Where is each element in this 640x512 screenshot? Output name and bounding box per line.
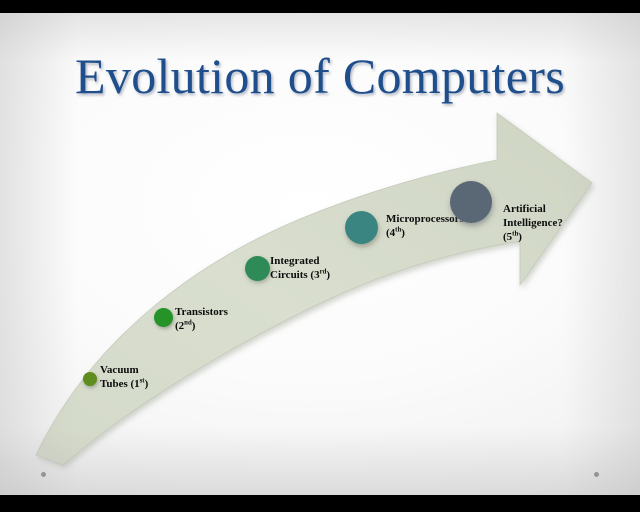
- milestone-label-artificial-intelligence: Artificial Intelligence? (5th): [503, 203, 563, 244]
- slide-canvas: Evolution of Computers Vacuum Tubes (1st…: [0, 13, 640, 495]
- milestone-label-transistors: Transistors (2nd): [175, 306, 228, 334]
- milestone-label-microprocessors: Microprocessors (4th): [386, 213, 464, 241]
- milestone-label-line2-suffix: ): [145, 378, 149, 390]
- milestone-label-line1: Vacuum: [100, 364, 139, 376]
- milestone-label-line2-prefix: (4: [386, 227, 395, 239]
- page-title: Evolution of Computers: [0, 47, 640, 105]
- milestone-label-line3-prefix: (5: [503, 231, 512, 243]
- letterbox-top: [0, 0, 640, 13]
- milestone-dot-integrated-circuits: [245, 256, 270, 281]
- milestone-label-line2-suffix: ): [192, 320, 196, 332]
- milestone-ordinal-suffix: nd: [184, 319, 192, 326]
- milestone-label-line1: Microprocessors: [386, 213, 464, 225]
- milestone-label-line2-prefix: Circuits (3: [270, 269, 320, 281]
- presentation-slide-frame: Evolution of Computers Vacuum Tubes (1st…: [0, 0, 640, 512]
- milestone-label-line2-prefix: Tubes (1: [100, 378, 140, 390]
- milestone-label-line1: Integrated: [270, 255, 320, 267]
- milestone-label-line2-prefix: (2: [175, 320, 184, 332]
- milestone-label-line1: Artificial: [503, 203, 546, 215]
- decoration-dot-right: [594, 472, 599, 477]
- milestone-label-vacuum-tubes: Vacuum Tubes (1st): [100, 364, 148, 392]
- milestone-dot-vacuum-tubes: [83, 372, 97, 386]
- milestone-label-integrated-circuits: Integrated Circuits (3rd): [270, 255, 330, 283]
- milestone-label-line2-suffix: ): [401, 227, 405, 239]
- decoration-dot-left: [41, 472, 46, 477]
- milestone-dot-microprocessors: [345, 211, 378, 244]
- milestone-dot-artificial-intelligence: [450, 181, 492, 223]
- milestone-label-line2: Intelligence?: [503, 217, 563, 229]
- milestone-label-line1: Transistors: [175, 306, 228, 318]
- milestone-dot-transistors: [154, 308, 173, 327]
- milestone-label-line3-suffix: ): [518, 231, 522, 243]
- letterbox-bottom: [0, 495, 640, 512]
- milestone-label-line2-suffix: ): [326, 269, 330, 281]
